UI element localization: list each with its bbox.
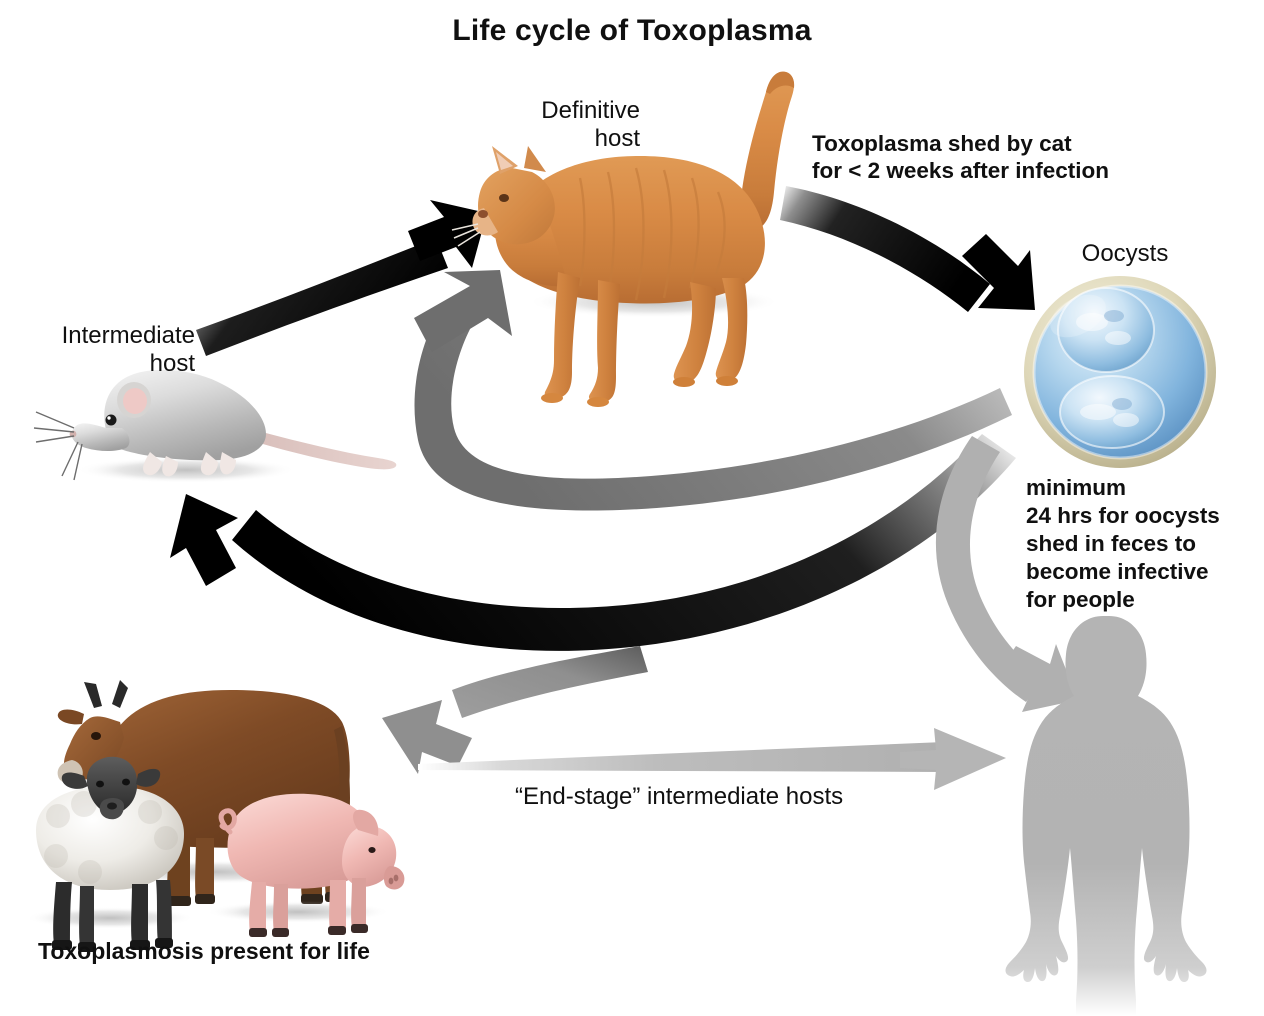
arrow-cat-to-oocyst <box>780 186 1035 312</box>
label-definitive-host: Definitive host <box>420 97 640 153</box>
label-toxoplasmosis-present-for-life: Toxoplasmosis present for life <box>38 938 370 965</box>
label-minimum-infective-time: minimum 24 hrs for oocysts shed in feces… <box>1026 474 1220 613</box>
arrow-farm-animals-to-human <box>418 728 1006 790</box>
page-title: Life cycle of Toxoplasma <box>0 14 1264 49</box>
pig-illustration <box>206 794 404 937</box>
label-intermediate-host: Intermediate host <box>0 322 195 378</box>
label-toxoplasma-shed-by-cat: Toxoplasma shed by cat for < 2 weeks aft… <box>812 130 1109 185</box>
label-end-stage-intermediate-hosts: “End-stage” intermediate hosts <box>515 783 843 811</box>
arrow-oocyst-to-mouse <box>170 434 1016 651</box>
label-oocysts: Oocysts <box>1030 240 1220 268</box>
mouse-illustration <box>34 370 396 483</box>
arrow-oocyst-to-farm-animals <box>382 646 648 774</box>
oocyst-illustration <box>1024 276 1216 468</box>
diagram-canvas: Life cycle of Toxoplasma Definitive host… <box>0 0 1264 1016</box>
